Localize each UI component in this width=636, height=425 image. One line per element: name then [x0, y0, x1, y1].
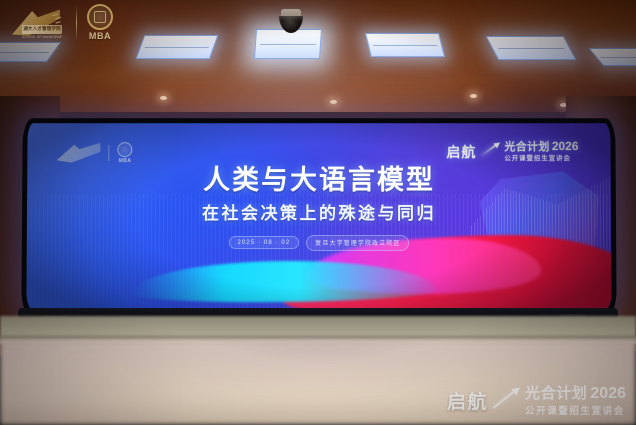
- screen-title-sub: 在社会决策上的殊途与同归: [27, 199, 611, 224]
- brand-text-block: 光合计划 2026 公开课暨招生宣讲会: [525, 385, 626, 417]
- screen-title-main: 人类与大语言模型: [27, 166, 611, 194]
- watermark-top-left: 湖大人才管理学院 SCHOOL OF MANAGEMENT MBA: [12, 4, 113, 41]
- screen-title-block: 人类与大语言模型 在社会决策上的殊途与同归: [27, 166, 611, 224]
- mba-label: MBA: [87, 31, 113, 41]
- screen-date-pill: 2025 · 08 · 02: [228, 236, 299, 249]
- screen-mba-logo: MBA: [117, 142, 132, 164]
- conference-hall-photo: MBA 人类与大语言模型 在社会决策上的殊途与同归 2025 · 08 · 02…: [0, 0, 636, 425]
- led-screen-surface: MBA 人类与大语言模型 在社会决策上的殊途与同归 2025 · 08 · 02…: [26, 123, 611, 309]
- qihang-label: 启航: [447, 385, 488, 412]
- screen-brand-year: 2026: [552, 140, 579, 154]
- screen-school-logo-icon: [57, 143, 101, 163]
- screen-meta-row: 2025 · 08 · 02 复旦大学管理学院政立院区: [27, 235, 611, 251]
- screen-brand-subtitle: 公开课暨招生宣讲会: [504, 155, 578, 162]
- screen-brand-lockup: 启航 光合计划 2026 公开课暨招生宣讲会: [446, 140, 578, 163]
- plan-label: 光合计划: [525, 385, 587, 403]
- watermark-divider: [76, 6, 77, 40]
- brand-arrow-icon: [493, 387, 520, 414]
- screen-brand-plan: 光合计划: [504, 141, 550, 154]
- event-subtitle-label: 公开课暨招生宣讲会: [525, 406, 626, 417]
- logo-divider: [108, 145, 109, 161]
- school-logo-icon: 湖大人才管理学院 SCHOOL OF MANAGEMENT: [12, 8, 66, 38]
- screen-brand-text: 光合计划 2026 公开课暨招生宣讲会: [504, 140, 578, 163]
- mba-logo: MBA: [87, 4, 113, 41]
- screen-brand-arrow-icon: [480, 141, 500, 161]
- year-label: 2026: [590, 385, 626, 404]
- screen-brand-qihang: 启航: [446, 140, 476, 159]
- screen-mba-label: MBA: [117, 158, 132, 164]
- school-name-sub-label: SCHOOL OF MANAGEMENT: [22, 35, 62, 40]
- screen-logo-lockup: MBA: [57, 142, 133, 164]
- school-name-label: 湖大人才管理学院: [22, 25, 62, 33]
- screen-seal-icon: [117, 142, 132, 157]
- screen-venue-pill: 复旦大学管理学院政立院区: [306, 235, 409, 251]
- university-seal-icon: [87, 4, 113, 30]
- curved-led-screen: MBA 人类与大语言模型 在社会决策上的殊途与同归 2025 · 08 · 02…: [21, 118, 616, 316]
- watermark-bottom-right: 启航 光合计划 2026 公开课暨招生宣讲会: [447, 385, 626, 417]
